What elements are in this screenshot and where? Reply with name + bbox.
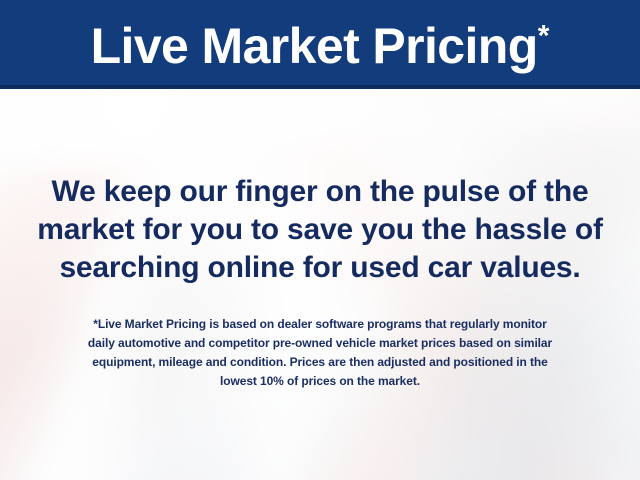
page-title: Live Market Pricing* [91,21,550,71]
page-title-asterisk: * [538,19,550,52]
headline-line: searching online for used car values. [22,249,618,287]
headline-line: market for you to save you the hassle of [22,211,618,249]
fineprint-line: daily automotive and competitor pre-owne… [22,334,618,353]
header-band: Live Market Pricing* [0,0,640,89]
fineprint-disclaimer: *Live Market Pricing is based on dealer … [22,315,618,391]
fineprint-line: *Live Market Pricing is based on dealer … [22,315,618,334]
content-area: We keep our finger on the pulse of the m… [0,89,640,480]
headline-block: We keep our finger on the pulse of the m… [22,173,618,287]
page-title-text: Live Market Pricing [91,18,538,74]
live-market-pricing-banner: Live Market Pricing* We keep our finger … [0,0,640,480]
headline-line: We keep our finger on the pulse of the [22,173,618,211]
fineprint-line: equipment, mileage and condition. Prices… [22,353,618,372]
fineprint-line: lowest 10% of prices on the market. [22,372,618,391]
